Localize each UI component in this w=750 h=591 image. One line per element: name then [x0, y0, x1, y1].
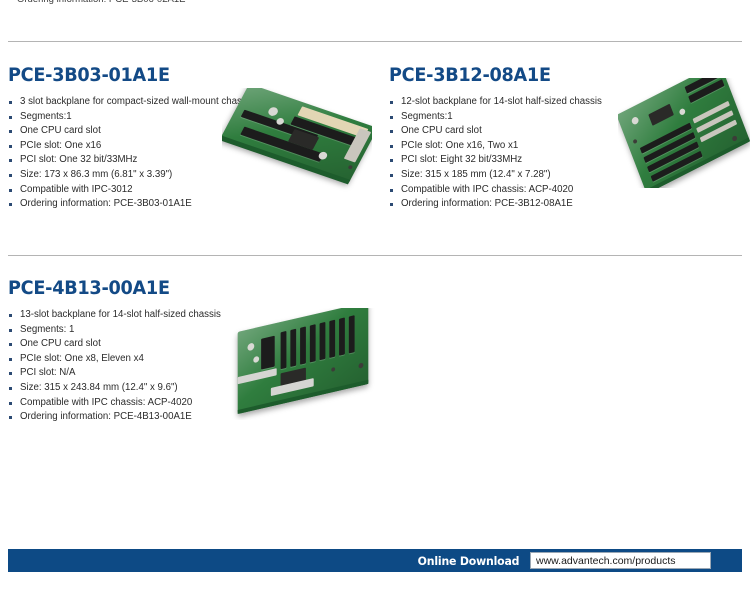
spec-item: One CPU card slot	[389, 124, 629, 139]
spec-item: Size: 315 x 243.84 mm (12.4" x 9.6")	[8, 381, 248, 396]
spec-item: PCIe slot: One x16, Two x1	[389, 139, 629, 154]
spec-item: Size: 173 x 86.3 mm (6.81" x 3.39")	[8, 168, 248, 183]
spec-item: Compatible with IPC-3012	[8, 183, 248, 198]
spec-item: One CPU card slot	[8, 337, 248, 352]
product-spec-list: 3 slot backplane for compact-sized wall-…	[8, 95, 248, 212]
spec-item: Compatible with IPC chassis: ACP-4020	[8, 396, 248, 411]
spec-item: PCI slot: One 32 bit/33MHz	[8, 153, 248, 168]
spec-item: Segments:1	[8, 110, 248, 125]
product-spec-list: 13-slot backplane for 14-slot half-sized…	[8, 308, 248, 425]
spec-item: PCI slot: Eight 32 bit/33MHz	[389, 153, 629, 168]
online-download-label: Online Download	[418, 554, 520, 568]
product-title: PCE-4B13-00A1E	[8, 277, 231, 299]
product-block-pce-3b12-08a1e: PCE-3B12-08A1E 12-slot backplane for 14-…	[389, 64, 629, 212]
spec-item: PCI slot: N/A	[8, 366, 248, 381]
clipped-top-bullet-row: Ordering information: PCE-3B06-02A1E	[0, 0, 750, 8]
spec-item: Segments: 1	[8, 323, 248, 338]
spec-item: Size: 315 x 185 mm (12.4" x 7.28")	[389, 168, 629, 183]
spec-item: One CPU card slot	[8, 124, 248, 139]
product-photo-pce-4b13	[230, 308, 378, 420]
spec-item: Ordering information: PCE-3B12-08A1E	[389, 197, 629, 212]
product-block-pce-3b03-01a1e: PCE-3B03-01A1E 3 slot backplane for comp…	[8, 64, 248, 212]
download-url-field[interactable]: www.advantech.com/products	[530, 552, 711, 569]
section-divider-top	[8, 41, 742, 42]
spec-item: PCIe slot: One x16	[8, 139, 248, 154]
spec-item: 12-slot backplane for 14-slot half-sized…	[389, 95, 629, 110]
spec-item: Segments:1	[389, 110, 629, 125]
spec-item: Compatible with IPC chassis: ACP-4020	[389, 183, 629, 198]
section-divider-middle	[8, 255, 742, 256]
product-title: PCE-3B03-01A1E	[8, 64, 231, 86]
product-block-pce-4b13-00a1e: PCE-4B13-00A1E 13-slot backplane for 14-…	[8, 277, 248, 425]
spec-item: Ordering information: PCE-3B03-01A1E	[8, 197, 248, 212]
spec-item: 3 slot backplane for compact-sized wall-…	[8, 95, 248, 110]
spec-item: PCIe slot: One x8, Eleven x4	[8, 352, 248, 367]
product-title: PCE-3B12-08A1E	[389, 64, 612, 86]
product-photo-pce-3b03	[222, 88, 372, 208]
spec-item: 13-slot backplane for 14-slot half-sized…	[8, 308, 248, 323]
product-photo-pce-3b12	[618, 78, 750, 188]
product-spec-list: 12-slot backplane for 14-slot half-sized…	[389, 95, 629, 212]
footer-bar: Online Download www.advantech.com/produc…	[8, 549, 742, 572]
spec-item: Ordering information: PCE-4B13-00A1E	[8, 410, 248, 425]
clipped-spec-text: Ordering information: PCE-3B06-02A1E	[17, 0, 185, 5]
